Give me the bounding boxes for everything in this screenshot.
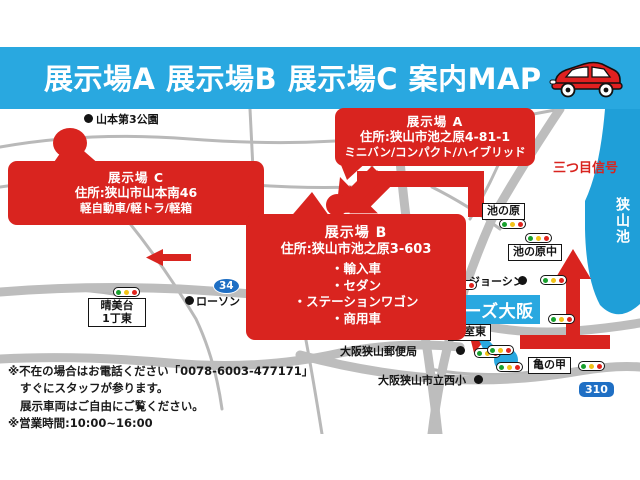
signbox-harumidai: 晴美台 1丁東 — [88, 298, 146, 327]
footer-notes: ※不在の場合はお電話ください「0078-6003-477171」 すぐにスタッフ… — [8, 363, 308, 432]
balloon-c-title: 展示場 C — [12, 170, 260, 185]
info-balloon-c[interactable]: 展示場 C 住所:狭山市山本南46 軽自動車/軽トラ/軽箱 — [8, 161, 264, 225]
traffic-signal-8 — [487, 345, 514, 355]
traffic-signal-9 — [496, 362, 523, 372]
route-shield-310: 310 — [578, 381, 615, 398]
traffic-signal-5 — [525, 233, 552, 243]
info-balloon-b[interactable]: 展示場 B 住所:狭山市池之原3-603 ・輸入車 ・セダン ・ステーションワゴ… — [246, 214, 466, 340]
info-balloon-a[interactable]: 展示場 A 住所:狭山市池之原4-81-1 ミニバン/コンパクト/ハイブリッド — [335, 108, 535, 166]
signbox-harumidai-line2: 1丁東 — [102, 312, 132, 325]
balloon-b-address: 住所:狭山市池之原3-603 — [250, 242, 462, 258]
balloon-b-item-0: ・輸入車 — [250, 261, 462, 278]
signbox-ikenohara: 池の原 — [482, 203, 525, 220]
balloon-b-item-2: ・ステーションワゴン — [250, 294, 462, 311]
balloon-b-item-1: ・セダン — [250, 278, 462, 295]
traffic-signal-10 — [578, 361, 605, 371]
note-line-2: すぐにスタッフが参ります。 — [8, 380, 308, 397]
label-lawson: ローソン — [196, 293, 240, 309]
route-shield-34: 34 — [213, 278, 240, 294]
map-flyer: 展示場A 展示場B 展示場C 案内MAP — [0, 0, 640, 480]
traffic-signal-11 — [548, 314, 575, 324]
balloon-c-sub: 軽自動車/軽トラ/軽箱 — [12, 201, 260, 215]
signbox-harumidai-line1: 晴美台 — [101, 299, 134, 312]
dot-lawson — [185, 296, 194, 305]
balloon-a-address: 住所:狭山市池之原4-81-1 — [339, 129, 531, 144]
balloon-b-item-3: ・商用車 — [250, 311, 462, 328]
traffic-signal-4 — [499, 219, 526, 229]
traffic-signal-6 — [540, 275, 567, 285]
balloon-c-address: 住所:狭山市山本南46 — [12, 185, 260, 200]
note-line-4: ※営業時間:10:00~16:00 — [8, 415, 308, 432]
header-banner: 展示場A 展示場B 展示場C 案内MAP — [0, 47, 640, 109]
dot-nishi-elementary — [474, 375, 483, 384]
balloon-a-sub: ミニバン/コンパクト/ハイブリッド — [339, 145, 531, 159]
label-nishi-elementary: 大阪狭山市立西小 — [378, 372, 466, 388]
red-car-icon — [546, 55, 626, 101]
signbox-kamenoko-line1: 亀の甲 — [533, 358, 566, 371]
traffic-signal-1 — [113, 287, 140, 297]
signbox-kamenoko: 亀の甲 — [528, 357, 571, 374]
signbox-ikenohara-naka: 池の原中 — [508, 244, 562, 261]
balloon-a-title: 展示場 A — [339, 114, 531, 129]
dot-post-office — [456, 346, 465, 355]
signbox-ikenohara-naka-line1: 池の原中 — [513, 245, 557, 258]
label-sayama-lake: 狭山池 — [612, 197, 632, 245]
label-yamamoto-park: 山本第3公園 — [96, 111, 159, 127]
label-joshin: ジョーシン — [469, 273, 524, 289]
signbox-ikenohara-line1: 池の原 — [487, 204, 520, 217]
note-line-3: 展示車両はご自由にご覧ください。 — [8, 398, 308, 415]
label-post-office: 大阪狭山郵便局 — [340, 343, 417, 359]
balloon-b-title: 展示場 B — [250, 225, 462, 242]
note-line-1: ※不在の場合はお電話ください「0078-6003-477171」 — [8, 363, 308, 380]
page-title: 展示場A 展示場B 展示場C 案内MAP — [44, 56, 542, 98]
dot-yamamoto-park — [84, 114, 93, 123]
label-third-signal: 三つ目信号 — [553, 157, 618, 176]
